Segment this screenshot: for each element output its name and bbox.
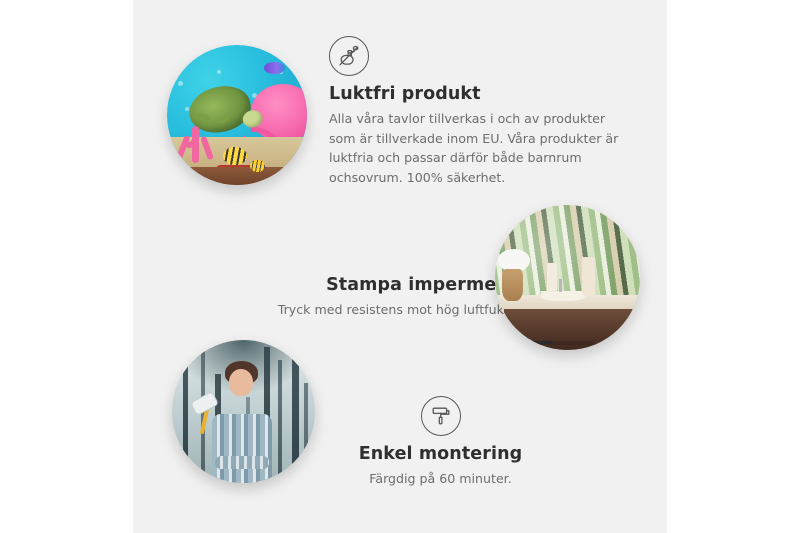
sea-floor-dark-band [167, 167, 307, 185]
product-feature-page: Luktfri produkt Alla våra tavlor tillver… [0, 0, 800, 533]
feature-description: Tryck med resistens mot hög luftfuktighe… [193, 300, 545, 320]
tree-trunk [304, 383, 308, 483]
tree-trunk [183, 366, 188, 483]
feature-assembly: Enkel montering Färgdig på 60 minuter. [323, 396, 558, 489]
toiletry-bottle [582, 257, 595, 295]
toiletry-bottle [547, 263, 557, 292]
vase [502, 269, 522, 301]
woman-plaid-shirt [212, 414, 272, 483]
tree-trunk [292, 354, 299, 483]
woman-face [229, 369, 253, 396]
feature-title: Enkel montering [323, 444, 558, 464]
cabinet-handle [615, 341, 618, 347]
paint-roller-icon [421, 396, 461, 436]
wood-vanity-cabinet [504, 309, 640, 350]
turtle-fin-icon [218, 113, 232, 124]
feature-waterproof: Stampa impermeabile Tryck med resistens … [193, 228, 545, 320]
feature-title: Luktfri produkt [329, 84, 629, 104]
sink-basin [541, 291, 585, 301]
no-odor-perfume-bottle-icon [329, 36, 369, 76]
feature-title: Stampa impermeabile [193, 275, 545, 295]
painter-forest-photo [172, 340, 315, 483]
turtle-fin-icon [196, 112, 211, 122]
feature-odorless: Luktfri produkt Alla våra tavlor tillver… [329, 36, 629, 187]
coral-icon [175, 126, 217, 162]
tree-trunk [278, 360, 282, 483]
underwater-cartoon-photo [167, 45, 307, 185]
faucet-icon [559, 279, 562, 292]
feature-description: Alla våra tavlor tillverkas i och av pro… [329, 109, 629, 187]
drawer-handle [523, 341, 553, 344]
woman-crossed-arms [215, 456, 269, 469]
content-panel: Luktfri produkt Alla våra tavlor tillver… [133, 0, 667, 533]
bathroom-wallpaper-photo [495, 205, 640, 350]
feature-description: Färgdig på 60 minuter. [323, 469, 558, 489]
purple-fish-icon [264, 62, 285, 75]
